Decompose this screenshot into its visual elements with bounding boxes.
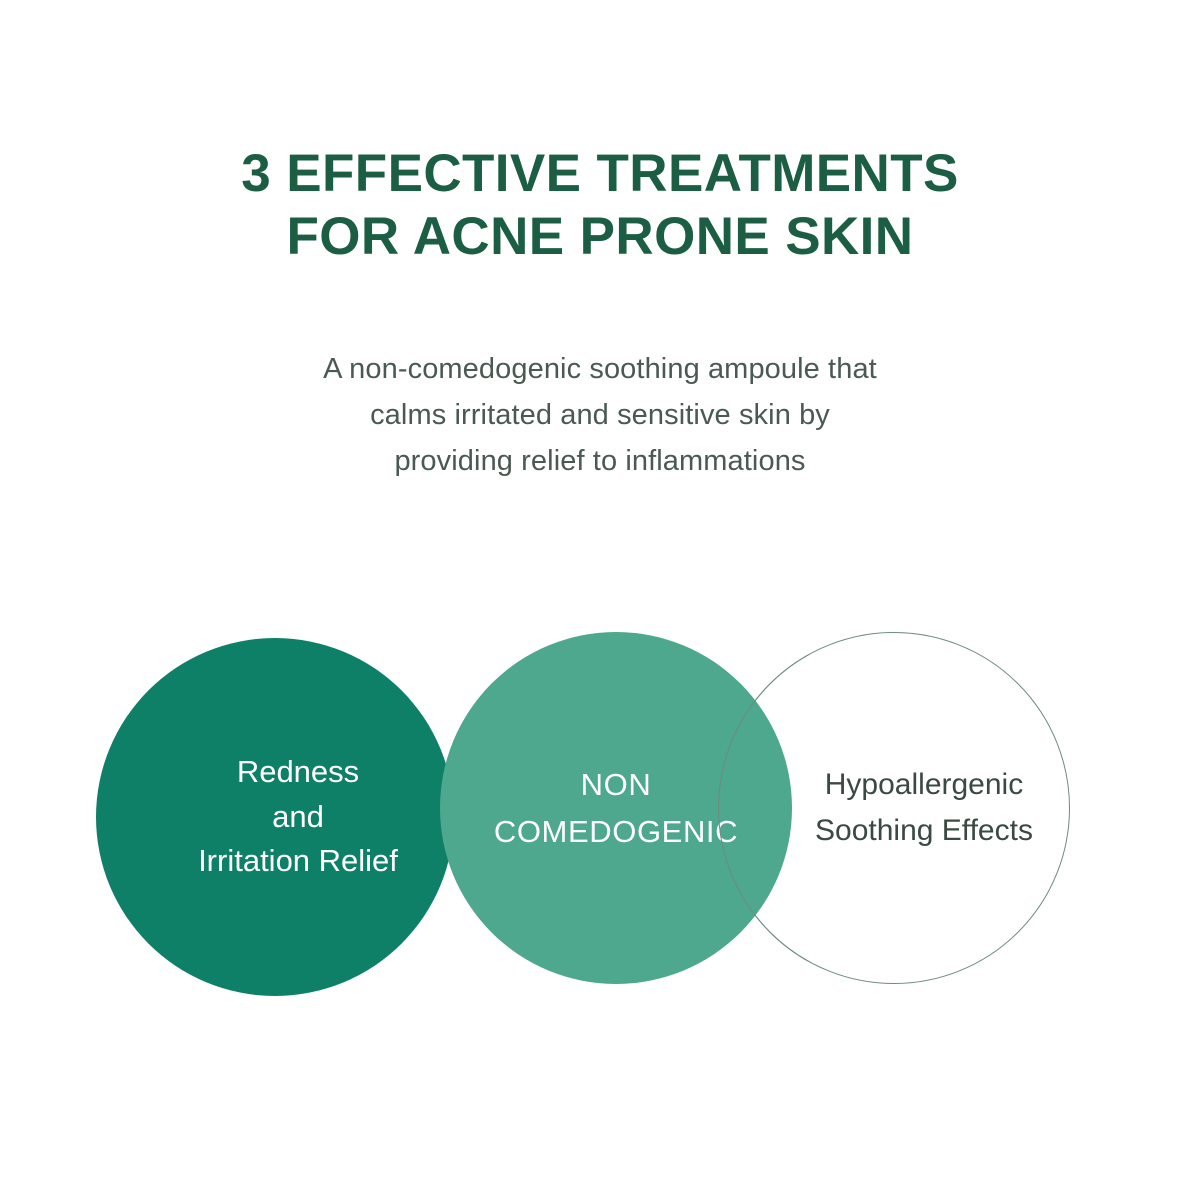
venn-circle-redness-relief: Redness and Irritation Relief	[96, 638, 454, 996]
page-title: 3 Effective Treatments For Acne Prone Sk…	[0, 142, 1200, 269]
venn-circle-hypoallergenic-soothing-label: Hypoallergenic Soothing Effects	[755, 762, 1033, 853]
venn-diagram: Redness and Irritation Relief Hypoallerg…	[0, 600, 1200, 1040]
page-subtitle: A non-comedogenic soothing ampoule that …	[0, 347, 1200, 484]
venn-circle-redness-relief-label: Redness and Irritation Relief	[152, 750, 398, 885]
venn-circle-non-comedogenic: NON COMEDOGENIC	[440, 632, 792, 984]
infographic-page: 3 Effective Treatments For Acne Prone Sk…	[0, 0, 1200, 1200]
venn-circle-non-comedogenic-label: NON COMEDOGENIC	[494, 761, 738, 855]
